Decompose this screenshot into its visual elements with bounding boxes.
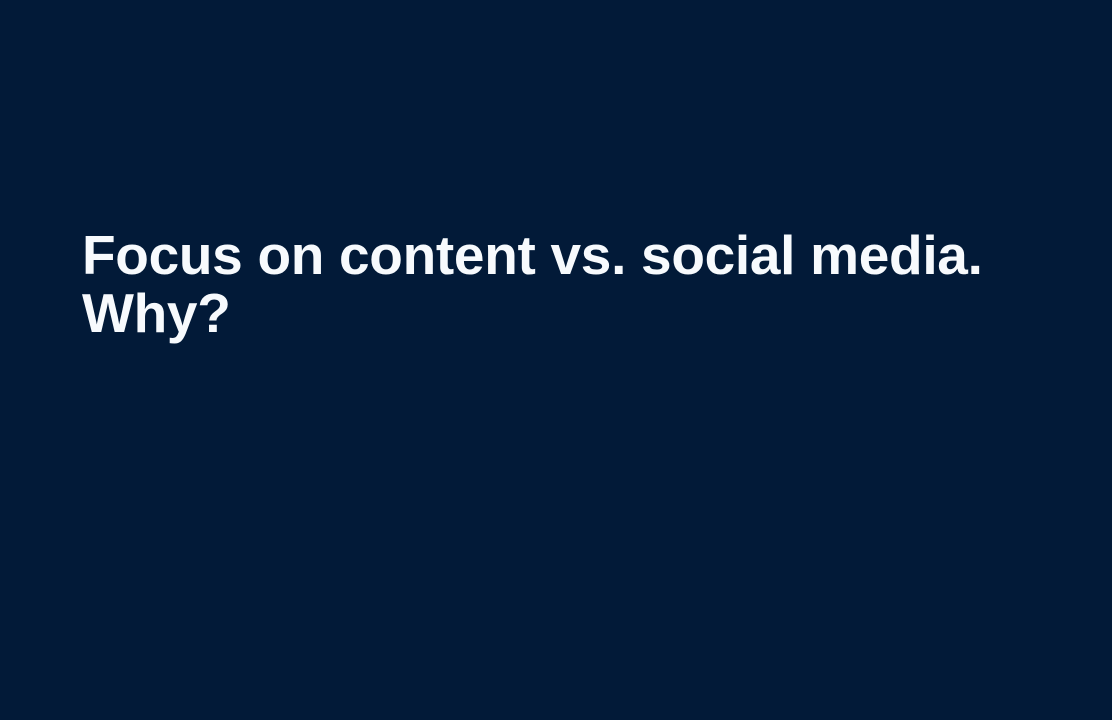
presentation-slide: Focus on content vs. social media. Why? [0,0,1112,720]
slide-heading: Focus on content vs. social media. Why? [82,226,942,342]
slide-heading-line-2: Why? [82,284,942,342]
slide-heading-line-1: Focus on content vs. social media. [82,226,942,284]
